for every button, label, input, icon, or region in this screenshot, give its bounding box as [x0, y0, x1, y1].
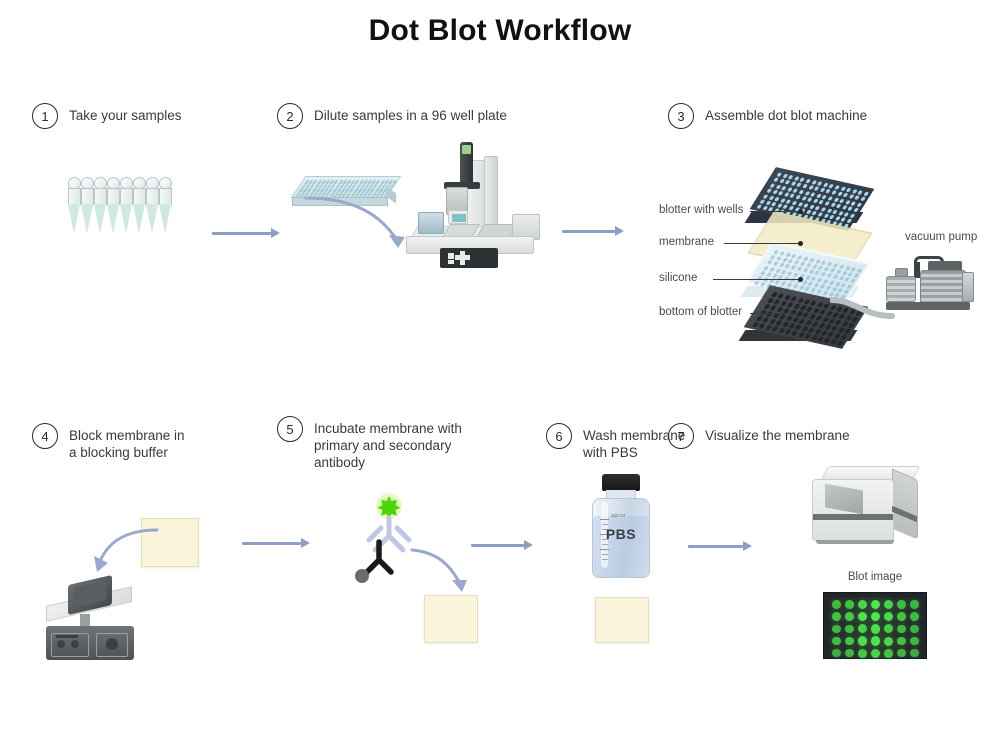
- blotter-well: [817, 212, 823, 217]
- blotter-well: [834, 185, 840, 190]
- blotter-well: [829, 215, 835, 220]
- blotter-well: [783, 204, 789, 209]
- annotation-membrane: membrane: [659, 236, 714, 248]
- blotter-well: [797, 255, 803, 260]
- blotter-well: [798, 189, 804, 194]
- blotter-well: [773, 178, 779, 183]
- blotter-well: [802, 184, 808, 189]
- blotter-well: [826, 273, 832, 278]
- blotter-well: [796, 267, 802, 272]
- blotter-well: [792, 200, 798, 205]
- blot-dot: [845, 600, 854, 609]
- blotter-well: [762, 206, 768, 211]
- blotter-well: [779, 179, 785, 184]
- blotter-well: [808, 185, 814, 190]
- pbs-bottle-illustration: 100 ml PBS: [589, 474, 653, 580]
- blotter-well: [781, 269, 787, 274]
- blot-dot: [845, 649, 853, 657]
- blotter-well: [770, 255, 776, 260]
- blotter-well: [756, 205, 762, 210]
- blotter-well: [787, 282, 793, 287]
- blot-image-caption: Blot image: [823, 571, 927, 583]
- bottle-volume-mark: 100 ml: [611, 513, 625, 518]
- blotter-well: [774, 196, 780, 201]
- blotter-well: [760, 271, 766, 276]
- blotter-well: [833, 263, 839, 268]
- blotter-well: [789, 194, 795, 199]
- blot-dot: [858, 600, 867, 609]
- step-number-2: 2: [277, 103, 303, 129]
- blotter-well: [829, 268, 835, 273]
- vacuum-hose: [830, 296, 892, 322]
- blotter-well: [818, 200, 824, 205]
- blotter-well: [835, 270, 841, 275]
- blotter-well: [786, 302, 794, 308]
- step-number-4: 4: [32, 423, 58, 449]
- blot-dot: [845, 612, 854, 621]
- blotter-well: [769, 267, 775, 272]
- blotter-well: [787, 271, 793, 276]
- blot-dot: [858, 624, 867, 633]
- blotter-well: [766, 272, 772, 277]
- blotter-well: [827, 196, 833, 201]
- blotter-well: [805, 179, 811, 184]
- rocker-base: [46, 626, 134, 660]
- annotation-bottom-of-blotter: bottom of blotter: [659, 306, 742, 318]
- blotter-well: [810, 192, 816, 197]
- blot-dot: [832, 625, 840, 633]
- blotter-well: [778, 263, 784, 268]
- membrane-step-5: [424, 595, 478, 643]
- blot-dot: [897, 600, 906, 609]
- blot-dot: [871, 636, 881, 646]
- blot-dot: [871, 600, 881, 610]
- blotter-well: [808, 270, 814, 275]
- blotter-well: [840, 217, 846, 222]
- blotter-well: [804, 286, 810, 291]
- blot-dot: [897, 637, 906, 646]
- step-1-header: 1 Take your samples: [32, 103, 182, 129]
- blotter-well: [790, 266, 796, 271]
- blotter-well: [776, 256, 782, 261]
- blotter-well: [769, 183, 775, 188]
- blotter-well: [771, 326, 779, 332]
- blotter-well: [846, 219, 852, 224]
- blot-dot: [884, 649, 893, 658]
- leader-line-silicone: [713, 279, 800, 280]
- blotter-well: [840, 334, 848, 340]
- blotter-well: [822, 290, 828, 295]
- blotter-well: [788, 259, 794, 264]
- blotter-well: [817, 277, 823, 282]
- leader-dot-silicone: [798, 277, 803, 282]
- blot-dot: [858, 649, 867, 658]
- blotter-well: [807, 197, 813, 202]
- flow-arrow-6-to-7: [688, 541, 752, 551]
- blotter-well: [810, 288, 816, 293]
- blotter-well: [802, 268, 808, 273]
- blot-dot: [871, 612, 881, 622]
- step-number-3: 3: [668, 103, 694, 129]
- blotter-well: [846, 188, 852, 193]
- blotter-well: [775, 268, 781, 273]
- blotter-well: [860, 197, 866, 202]
- blotter-well: [814, 271, 820, 276]
- blotter-well: [832, 287, 838, 292]
- blotter-well: [795, 195, 801, 200]
- blotter-well: [841, 271, 847, 276]
- blotter-well: [791, 254, 797, 259]
- leader-line-membrane: [724, 243, 800, 244]
- blotter-well: [820, 272, 826, 277]
- blotter-well: [778, 191, 784, 196]
- step-number-5: 5: [277, 416, 303, 442]
- blotter-well: [838, 276, 844, 281]
- blotter-well: [788, 206, 794, 211]
- curved-arrow-membrane-to-rocker: [85, 524, 165, 584]
- blotter-well: [832, 209, 838, 214]
- blot-dot: [884, 624, 893, 633]
- blot-dot: [910, 612, 919, 621]
- blotter-well: [825, 189, 831, 194]
- page-title: Dot Blot Workflow: [0, 14, 1000, 48]
- blotter-well: [814, 283, 820, 288]
- blotter-well: [838, 288, 844, 293]
- annotation-vacuum-pump: vacuum pump: [905, 231, 977, 243]
- plate-top-surface: [291, 176, 402, 198]
- blotter-well: [836, 204, 842, 209]
- step-2-label: Dilute samples in a 96 well plate: [314, 103, 507, 124]
- blotter-well: [793, 272, 799, 277]
- leader-dot-membrane: [798, 241, 803, 246]
- step-number-7: 7: [668, 423, 694, 449]
- gel-imager-illustration: [812, 466, 932, 550]
- blotter-well: [799, 177, 805, 182]
- blot-dot: [845, 637, 854, 646]
- blotter-well: [812, 264, 818, 269]
- leader-line-blotter: [750, 211, 800, 212]
- flow-arrow-5-to-6: [471, 540, 533, 550]
- blot-dot: [910, 625, 918, 633]
- imager-right-side: [892, 468, 918, 539]
- blotter-well: [821, 260, 827, 265]
- blotter-well: [779, 251, 785, 256]
- blotter-well: [829, 280, 835, 285]
- blotter-well: [839, 264, 845, 269]
- blot-dot: [897, 649, 905, 657]
- imager-band: [813, 514, 893, 520]
- blotter-well: [784, 264, 790, 269]
- blotter-well: [818, 266, 824, 271]
- blot-dot: [832, 612, 841, 621]
- leader-line-bottom: [750, 313, 800, 314]
- blotter-well: [824, 201, 830, 206]
- blotter-well: [823, 267, 829, 272]
- blotter-well: [842, 193, 848, 198]
- leader-dot-bottom: [798, 311, 803, 316]
- step-3-header: 3 Assemble dot blot machine: [668, 103, 867, 129]
- blot-dot: [871, 649, 880, 658]
- blotter-well: [839, 198, 845, 203]
- blotter-well: [837, 192, 843, 197]
- blot-dot: [910, 637, 918, 645]
- blotter-well: [759, 282, 765, 287]
- blotter-well: [850, 279, 856, 284]
- blot-dot: [871, 624, 880, 633]
- step-5-label: Incubate membrane with primary and secon…: [314, 416, 462, 471]
- blotter-well: [857, 268, 863, 273]
- blotter-well: [844, 328, 852, 334]
- blotter-well: [776, 172, 782, 177]
- blotter-well: [851, 267, 857, 272]
- blotter-well: [772, 273, 778, 278]
- blotter-well: [847, 284, 853, 289]
- blotter-well: [854, 196, 860, 201]
- blotter-well: [847, 272, 853, 277]
- blotter-well: [779, 314, 787, 320]
- blotter-well: [831, 191, 837, 196]
- blotter-well: [794, 260, 800, 265]
- blotter-well: [821, 207, 827, 212]
- step-7-header: 7 Visualize the membrane: [668, 423, 850, 449]
- blotter-well: [772, 262, 778, 267]
- blotter-well: [808, 327, 816, 333]
- flow-arrow-2-to-3: [562, 226, 624, 236]
- blotter-well: [827, 262, 833, 267]
- step-2-header: 2 Dilute samples in a 96 well plate: [277, 103, 507, 129]
- blotter-well: [844, 289, 850, 294]
- blotter-well: [763, 265, 769, 270]
- blotter-well: [836, 340, 844, 346]
- blot-dot: [858, 612, 867, 621]
- curved-arrow-antibody-to-membrane: [410, 548, 478, 600]
- blotter-well: [785, 253, 791, 258]
- blotter-well: [853, 208, 859, 213]
- step-5-header: 5 Incubate membrane with primary and sec…: [277, 416, 462, 471]
- blotter-well: [816, 289, 822, 294]
- blotter-well: [817, 181, 823, 186]
- antigen-dot: [355, 569, 369, 583]
- blot-image-panel: [823, 592, 927, 659]
- blotter-well: [850, 213, 856, 218]
- blotter-well: [819, 309, 827, 315]
- blot-dot: [845, 625, 854, 634]
- step-number-6: 6: [546, 423, 572, 449]
- blot-dot: [897, 625, 905, 633]
- blot-dot: [832, 600, 841, 609]
- blotter-well: [766, 188, 772, 193]
- blotter-well: [799, 285, 805, 290]
- blotter-well: [771, 202, 777, 207]
- blotter-well: [853, 274, 859, 279]
- blotter-well: [832, 275, 838, 280]
- blotter-well: [800, 262, 806, 267]
- blotter-well: [803, 203, 809, 208]
- blotter-well: [766, 260, 772, 265]
- flow-arrow-1-to-2: [212, 228, 280, 238]
- sample-tubes-illustration: [68, 174, 180, 236]
- blotter-well: [863, 192, 869, 197]
- blot-dot: [832, 649, 840, 657]
- blotter-well: [763, 194, 769, 199]
- blotter-well: [828, 184, 834, 189]
- blotter-well: [841, 283, 847, 288]
- step-3-label: Assemble dot blot machine: [705, 103, 867, 124]
- bottle-label-pbs: PBS: [589, 526, 653, 542]
- blotter-well: [813, 187, 819, 192]
- blotter-well: [759, 199, 765, 204]
- annotation-silicone: silicone: [659, 272, 697, 284]
- blotter-well: [811, 276, 817, 281]
- blotter-well: [815, 259, 821, 264]
- bottle-cap: [602, 474, 640, 491]
- shaker-rocker-illustration: [46, 580, 146, 666]
- blotter-well: [844, 277, 850, 282]
- blotter-well: [856, 202, 862, 207]
- blotter-well: [806, 263, 812, 268]
- blotter-well: [823, 279, 829, 284]
- step-number-1: 1: [32, 103, 58, 129]
- step-6-header: 6 Wash membrane with PBS: [546, 423, 685, 461]
- blot-dot: [910, 600, 918, 608]
- blotter-well: [804, 333, 812, 339]
- blot-dot: [910, 649, 918, 657]
- blotter-well: [812, 211, 818, 216]
- blot-dot: [884, 637, 893, 646]
- blotter-well: [790, 296, 798, 302]
- blotter-well: [820, 284, 826, 289]
- blotter-well: [805, 275, 811, 280]
- blotter-well: [793, 284, 799, 289]
- blotter-well: [782, 258, 788, 263]
- step-1-label: Take your samples: [69, 103, 182, 124]
- blotter-well: [811, 321, 819, 327]
- blotter-well: [775, 280, 781, 285]
- blotter-well: [753, 281, 759, 286]
- blotter-well: [847, 206, 853, 211]
- blotter-well: [815, 315, 823, 321]
- blotter-well: [784, 180, 790, 185]
- blotter-well: [781, 281, 787, 286]
- flow-arrow-4-to-5: [242, 538, 310, 548]
- imager-foot: [816, 540, 894, 544]
- blotter-well: [835, 281, 841, 286]
- liquid-handling-robot-illustration: [400, 142, 545, 272]
- blot-dot: [884, 612, 893, 621]
- blotter-well: [826, 285, 832, 290]
- blotter-well: [803, 256, 809, 261]
- blotter-well: [788, 175, 794, 180]
- blotter-well: [775, 320, 783, 326]
- blotter-well: [773, 250, 779, 255]
- step-7-label: Visualize the membrane: [705, 423, 850, 444]
- membrane-step-6: [595, 597, 649, 643]
- blot-dot: [884, 600, 893, 609]
- blotter-well: [796, 183, 802, 188]
- blotter-well: [808, 281, 814, 286]
- step-4-label: Block membrane in a blocking buffer: [69, 423, 185, 461]
- step-4-header: 4 Block membrane in a blocking buffer: [32, 423, 185, 461]
- blotter-well: [845, 266, 851, 271]
- blot-dot: [897, 612, 906, 621]
- blot-dot: [832, 637, 841, 646]
- blotter-well: [857, 190, 863, 195]
- blotter-well: [781, 186, 787, 191]
- blot-dot: [858, 636, 867, 645]
- blotter-well: [809, 258, 815, 263]
- vacuum-pump-illustration: [884, 256, 980, 318]
- leader-dot-blotter: [798, 209, 803, 214]
- annotation-blotter-with-wells: blotter with wells: [659, 204, 743, 216]
